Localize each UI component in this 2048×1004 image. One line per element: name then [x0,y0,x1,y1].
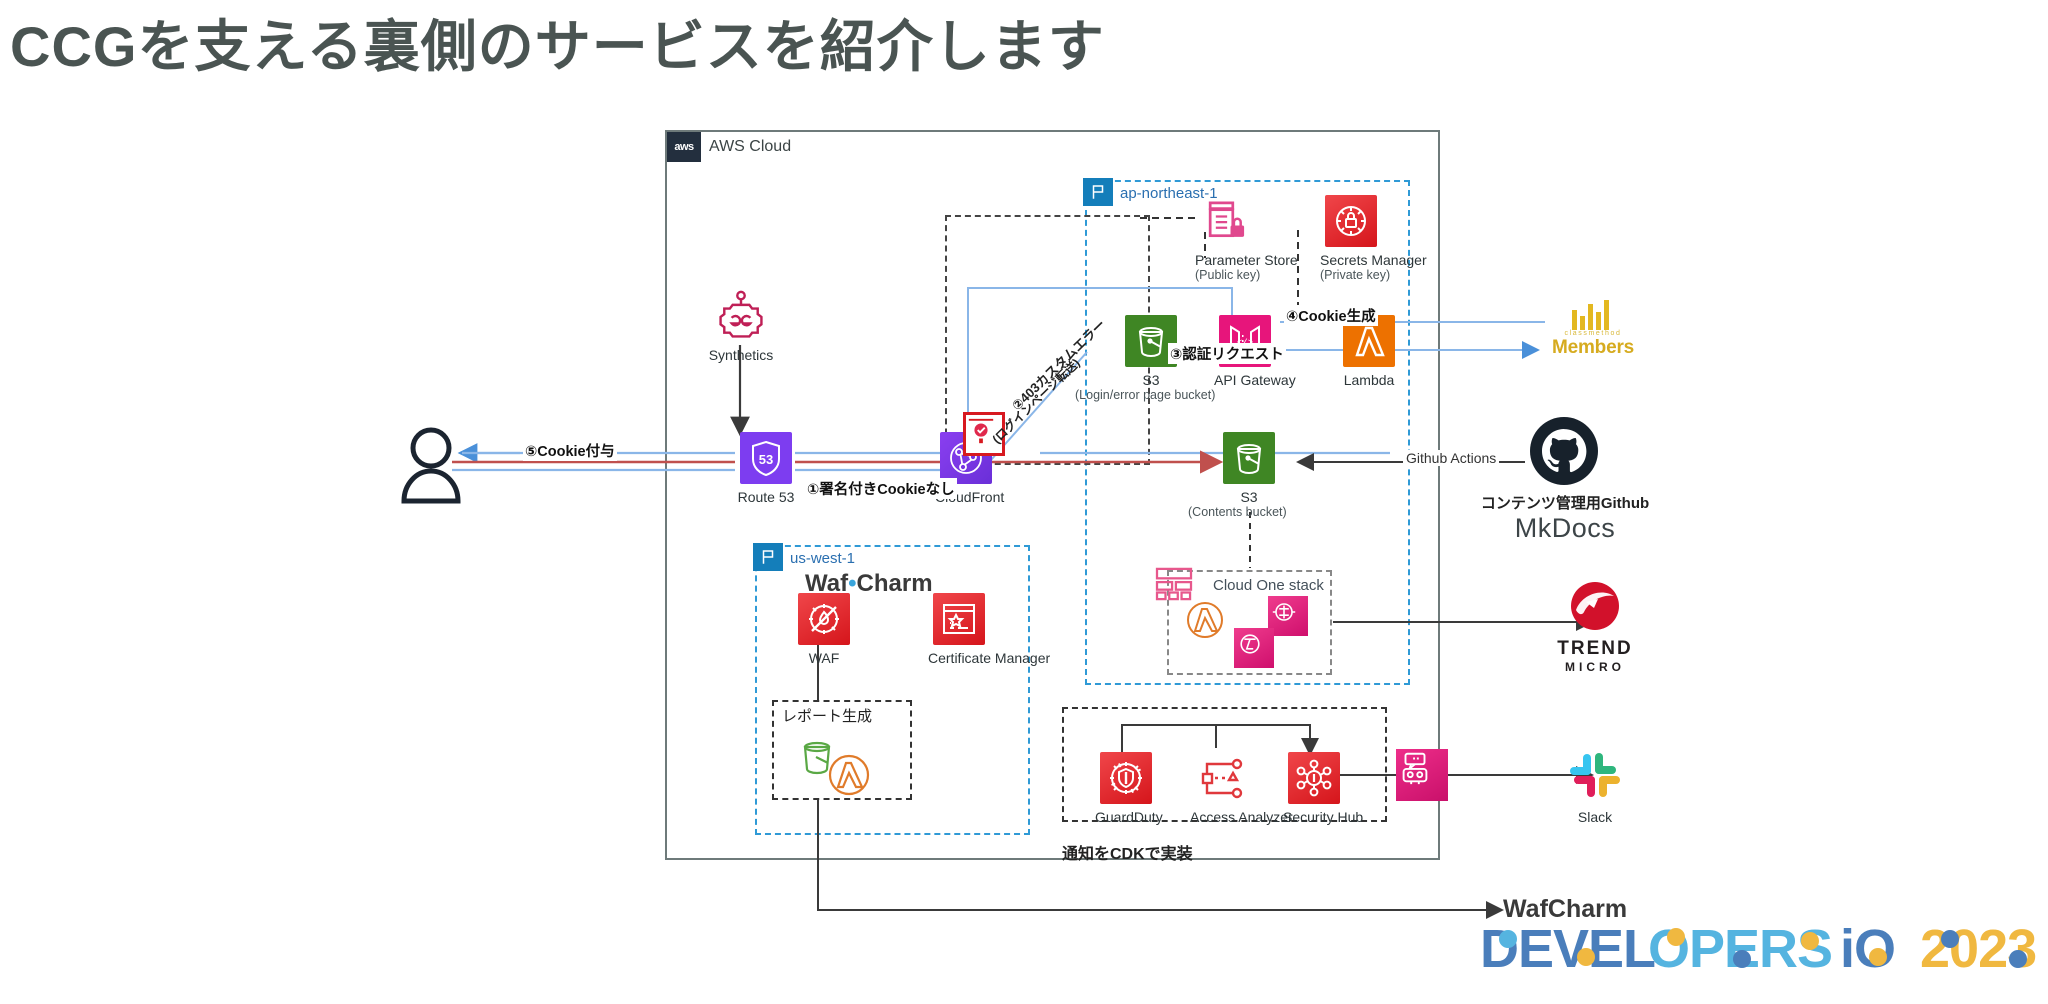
cloudwatch-synthetics-icon [711,290,771,342]
trendmicro-line1: TREND [1540,638,1650,660]
node-label: Security Hub [1283,809,1345,825]
node-label: Lambda [1338,372,1400,388]
trendmicro-line2: MICRO [1540,660,1650,674]
slack-label: Slack [1540,809,1650,825]
security-hub-icon [1288,752,1340,804]
svg-text:OPERS: OPERS [1648,919,1832,979]
cloudformation-icon [1155,567,1193,601]
node-s3-contents-bucket: S3 (Contents bucket) [1218,432,1280,519]
trendmicro-logo: TREND MICRO [1540,580,1650,674]
github-caption-line1: コンテンツ管理用Github [1480,492,1650,513]
waf-icon [798,593,850,645]
node-access-analyzer: Access Analyzer [1190,752,1252,825]
node-route53: 53 Route 53 [735,432,797,505]
aws-cloud-label: AWS Cloud [709,138,791,156]
node-security-hub: Security Hub [1283,752,1345,825]
slack-logo: Slack [1540,745,1650,825]
user-icon [400,425,462,510]
node-synthetics: Synthetics [705,290,777,363]
node-label: WAF [793,650,855,666]
node-label: API Gateway [1214,372,1276,388]
route53-icon: 53 [740,432,792,484]
node-label: Secrets Manager [1320,252,1382,268]
node-sublabel: (Private key) [1320,268,1382,282]
notification-label: 通知をCDKで実装 [1062,840,1193,864]
node-parameter-store: Parameter Store (Public key) [1195,195,1257,282]
svg-text:DEVEL: DEVEL [1480,919,1655,979]
flow-label-step3: ③認証リクエスト [1168,343,1286,364]
node-label: Certificate Manager [928,650,990,666]
access-analyzer-icon [1195,752,1247,804]
flow-label-step5: ⑤Cookie付与 [523,440,617,461]
members-sublabel: classmethod [1538,330,1648,337]
node-sublabel: (Login/error page bucket) [1075,388,1182,402]
node-waf: WAF [793,593,855,666]
region-flag-icon [1083,178,1113,206]
flow-label-github-actions: Github Actions [1403,450,1499,466]
architecture-diagram: aws AWS Cloud ap-northeast-1 us-west-1 C… [0,0,2048,991]
region-label-us-west-1: us-west-1 [790,550,855,567]
wafcharm-overlay-logo: Waf•Charm [805,570,933,598]
certificate-manager-icon [933,593,985,645]
node-sublabel: (Contents bucket) [1188,505,1280,519]
svg-text:iO: iO [1840,919,1895,979]
node-label: Parameter Store [1195,252,1257,268]
node-label: S3 [1120,372,1182,388]
developersio-footer-logo: DEVEL OPERS iO 2023 DEVELOPERS IO 2023 [1480,917,2040,979]
report-generation-label: レポート生成 [782,705,872,726]
svg-text:53: 53 [759,452,773,467]
cloud-one-stack-label: Cloud One stack [1213,577,1324,594]
guardduty-icon [1100,752,1152,804]
node-label: GuardDuty [1095,809,1157,825]
github-caption-line2: MkDocs [1480,513,1650,544]
cloudone-workload-icon [1234,628,1274,668]
lambda-outline-icon [827,753,871,797]
node-label: S3 [1218,489,1280,505]
github-caption: コンテンツ管理用Github MkDocs [1480,492,1650,544]
cloudone-network-icon [1268,596,1308,636]
aws-logo-icon: aws [667,132,701,162]
region-flag-icon [753,543,783,571]
chatbot-icon [1396,749,1448,801]
node-certificate-manager: Certificate Manager [928,593,990,666]
flow-label-step4: ④Cookie生成 [1284,305,1378,326]
members-label: Members [1538,337,1648,359]
node-secrets-manager: Secrets Manager (Private key) [1320,195,1382,282]
s3-bucket-icon [1223,432,1275,484]
node-label: Route 53 [735,489,797,505]
node-sublabel: (Public key) [1195,268,1257,282]
node-guardduty: GuardDuty [1095,752,1157,825]
svg-text:2023: 2023 [1920,919,2036,979]
secrets-manager-icon [1325,195,1377,247]
node-label: Synthetics [705,347,777,363]
github-icon [1528,415,1600,487]
node-label: Access Analyzer [1190,809,1252,825]
flow-label-step1: ①署名付きCookieなし [805,478,957,499]
lambda-outline-icon [1185,600,1225,640]
parameter-store-icon [1200,195,1252,247]
classmethod-members-logo: classmethod Members [1538,300,1648,359]
